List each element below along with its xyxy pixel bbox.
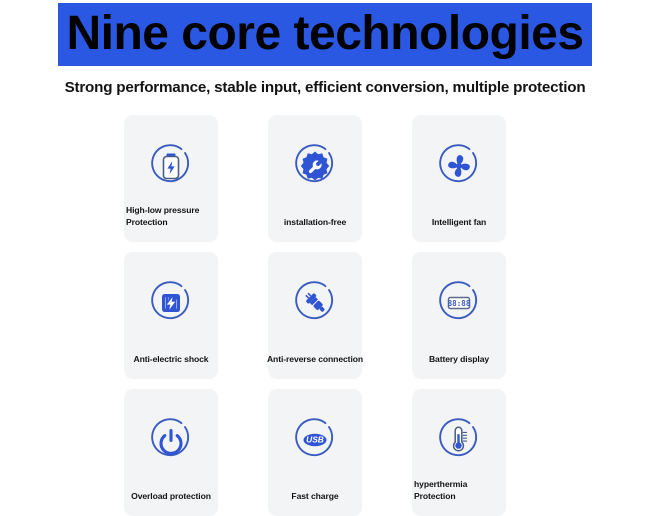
feature-card-battery-display[interactable]: 88:88 Battery display xyxy=(412,252,506,379)
page-subtitle: Strong performance, stable input, effici… xyxy=(0,79,650,96)
thermometer-icon xyxy=(412,411,506,469)
feature-card-high-low-pressure-protection[interactable]: High-low pressure Protection xyxy=(124,115,218,242)
feature-card-label: hyperthermia Protection xyxy=(412,479,506,502)
gear-wrench-icon xyxy=(268,137,362,195)
feature-card-label: Battery display xyxy=(412,354,506,366)
feature-card-label: installation-free xyxy=(268,217,362,229)
feature-card-label: Overload protection xyxy=(124,491,218,503)
fan-icon xyxy=(412,137,506,195)
feature-card-label: High-low pressure Protection xyxy=(124,205,218,228)
page-title-wrapper: Nine core technologies xyxy=(0,3,650,66)
usb-badge-text: USB xyxy=(306,435,324,445)
digital-display-icon: 88:88 xyxy=(412,274,506,332)
feature-card-label: Anti-reverse connection xyxy=(254,354,376,366)
shock-bolt-square-icon xyxy=(124,274,218,332)
power-button-icon xyxy=(124,411,218,469)
plug-connector-icon xyxy=(268,274,362,332)
battery-bolt-icon xyxy=(124,137,218,195)
feature-card-label: Anti-electric shock xyxy=(124,354,218,366)
feature-grid: High-low pressure Protection installatio… xyxy=(124,115,520,516)
usb-badge-icon: USB xyxy=(268,411,362,469)
feature-card-installation-free[interactable]: installation-free xyxy=(268,115,362,242)
digital-display-digits: 88:88 xyxy=(448,299,471,308)
feature-card-anti-reverse-connection[interactable]: Anti-reverse connection xyxy=(268,252,362,379)
page-header: Nine core technologies Strong performanc… xyxy=(0,0,650,96)
page-title: Nine core technologies xyxy=(58,3,591,66)
feature-card-label: Intelligent fan xyxy=(412,217,506,229)
feature-card-anti-electric-shock[interactable]: Anti-electric shock xyxy=(124,252,218,379)
feature-card-intelligent-fan[interactable]: Intelligent fan xyxy=(412,115,506,242)
feature-card-fast-charge[interactable]: USB Fast charge xyxy=(268,389,362,516)
feature-card-overload-protection[interactable]: Overload protection xyxy=(124,389,218,516)
feature-card-hyperthermia-protection[interactable]: hyperthermia Protection xyxy=(412,389,506,516)
feature-card-label: Fast charge xyxy=(268,491,362,503)
